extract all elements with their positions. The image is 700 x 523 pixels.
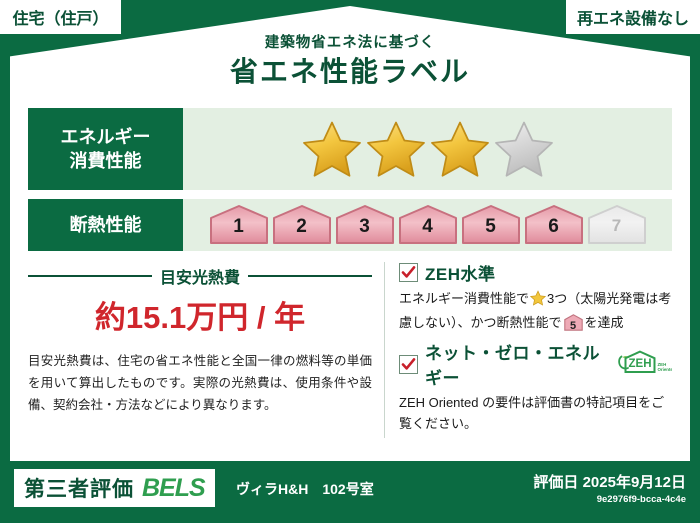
cost-heading-rule-right	[248, 275, 372, 277]
insulation-level-number: 4	[397, 216, 459, 238]
checkbox-checked-icon	[399, 263, 418, 282]
check-title-net-zero-energy: ネット・ゼロ・エネルギー	[425, 339, 607, 389]
energy-performance-body	[183, 108, 672, 190]
insulation-level-house-filled: 5	[460, 204, 522, 246]
evaluation-date: 評価日 2025年9月12日	[533, 471, 686, 492]
energy-performance-label: エネルギー 消費性能	[28, 108, 183, 190]
svg-text:ZEH: ZEH	[629, 358, 652, 370]
insulation-level-number: 6	[523, 216, 585, 238]
cost-column: 目安光熱費 約15.1万円 / 年 目安光熱費は、住宅の省エネ性能と全国一律の燃…	[28, 260, 384, 440]
insulation-level-house-filled: 3	[334, 204, 396, 246]
insulation-level-house-empty: 7	[586, 204, 648, 246]
check-head-zeh-standard: ZEH水準	[399, 260, 672, 285]
header-text-group: 建築物省エネ法に基づく 省エネ性能ラベル	[0, 36, 700, 88]
insulation-performance-row: 断熱性能 1234567	[28, 199, 672, 251]
star-filled-icon	[429, 119, 491, 179]
insulation-level-house-filled: 1	[208, 204, 270, 246]
energy-performance-label-line1: エネルギー	[61, 125, 151, 149]
cost-value: 約15.1万円 / 年	[28, 292, 372, 337]
cost-heading-rule-left	[28, 275, 152, 277]
energy-performance-label-line2: 消費性能	[70, 149, 142, 173]
star-filled-icon	[365, 119, 427, 179]
insulation-performance-label: 断熱性能	[28, 199, 183, 251]
insulation-performance-body: 1234567	[183, 199, 672, 251]
insulation-performance-label-text: 断熱性能	[70, 213, 142, 237]
bels-jp-label: 第三者評価	[24, 473, 134, 503]
check-body-part1: エネルギー消費性能で	[399, 291, 529, 306]
header-subtitle: 建築物省エネ法に基づく	[0, 36, 700, 52]
zeh-oriented-logo: ZEH ZEH Oriented	[616, 349, 672, 380]
cost-heading-text: 目安光熱費	[160, 264, 240, 288]
energy-performance-row: エネルギー 消費性能	[28, 108, 672, 190]
star-rating	[301, 119, 555, 179]
main-panel: エネルギー 消費性能 断熱性能 1234567 目安光熱費	[10, 96, 690, 461]
footer-right-group: 評価日 2025年9月12日 9e2976f9-bcca-4c4e	[533, 471, 686, 505]
insulation-level-number: 1	[208, 216, 270, 238]
footer: 第三者評価 BELS ヴィラH&H 102号室 評価日 2025年9月12日 9…	[0, 461, 700, 523]
inline-star-icon	[530, 290, 546, 312]
bels-plate: 第三者評価 BELS	[14, 469, 215, 507]
cost-note: 目安光熱費は、住宅の省エネ性能と全国一律の燃料等の単価を用いて算出したものです。…	[28, 351, 372, 417]
unit-name: ヴィラH&H 102号室	[236, 479, 374, 499]
inline-house-level-number: 5	[564, 318, 583, 336]
inline-house-level-icon: 5	[564, 314, 583, 331]
insulation-level-house-filled: 4	[397, 204, 459, 246]
checkbox-checked-icon	[399, 355, 418, 374]
check-item-zeh-standard: ZEH水準 エネルギー消費性能で3つ（太陽光発電は考慮しない）、かつ断熱性能で5…	[399, 260, 672, 333]
page-title: 省エネ性能ラベル	[0, 56, 700, 88]
insulation-level-number: 5	[460, 216, 522, 238]
lower-section: 目安光熱費 約15.1万円 / 年 目安光熱費は、住宅の省エネ性能と全国一律の燃…	[28, 260, 672, 440]
checks-column: ZEH水準 エネルギー消費性能で3つ（太陽光発電は考慮しない）、かつ断熱性能で5…	[385, 260, 672, 440]
insulation-level-number: 7	[586, 216, 648, 236]
star-filled-icon	[301, 119, 363, 179]
insulation-level-house-filled: 6	[523, 204, 585, 246]
evaluation-id: 9e2976f9-bcca-4c4e	[533, 494, 686, 505]
insulation-level-house-filled: 2	[271, 204, 333, 246]
badge-building-type: 住宅（住戸）	[0, 0, 121, 34]
star-empty-icon	[493, 119, 555, 179]
check-title-zeh-standard: ZEH水準	[425, 260, 496, 285]
insulation-level-scale: 1234567	[208, 204, 648, 246]
check-body-zeh-standard: エネルギー消費性能で3つ（太陽光発電は考慮しない）、かつ断熱性能で5を達成	[399, 288, 672, 333]
check-head-net-zero-energy: ネット・ゼロ・エネルギー ZEH ZEH Oriented	[399, 339, 672, 389]
bels-en-label: BELS	[142, 474, 205, 503]
cost-heading: 目安光熱費	[28, 264, 372, 288]
badge-renewable-energy: 再エネ設備なし	[566, 0, 700, 34]
check-body-net-zero-energy: ZEH Oriented の要件は評価書の特記項目をご覧ください。	[399, 392, 672, 434]
check-item-net-zero-energy: ネット・ゼロ・エネルギー ZEH ZEH Oriented	[399, 339, 672, 434]
insulation-level-number: 2	[271, 216, 333, 238]
svg-text:Oriented: Oriented	[658, 367, 673, 372]
energy-label-root: 建築物省エネ法に基づく 省エネ性能ラベル 住宅（住戸） 再エネ設備なし エネルギ…	[0, 0, 700, 523]
check-body-part3: を達成	[585, 315, 624, 330]
insulation-level-number: 3	[334, 216, 396, 238]
check-body-star-count: 3つ	[547, 291, 567, 306]
